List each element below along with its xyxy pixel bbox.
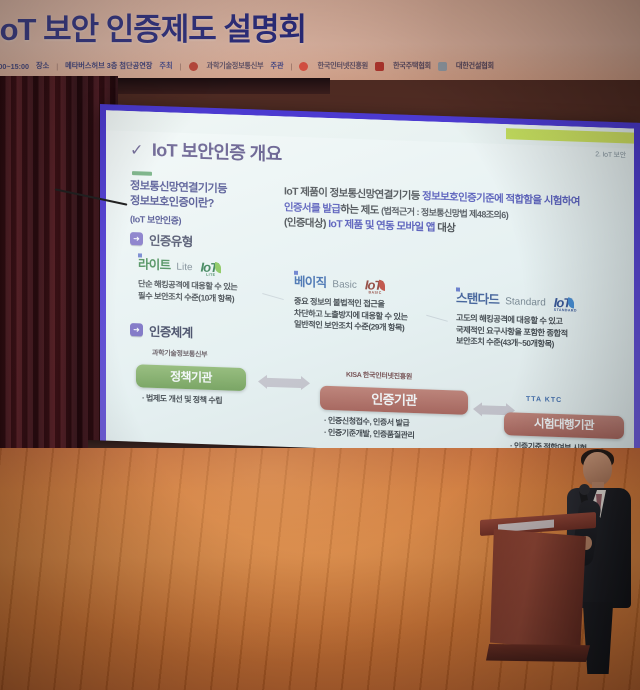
description-block: IoT 제품이 정보통신망연결기기등 정보보호인증기준에 적합함을 시험하여 인… bbox=[284, 184, 634, 243]
policy-bullets: · 법제도 개선 및 정책 수립 bbox=[142, 392, 222, 407]
flow-box-policy: 정책기관 bbox=[136, 364, 246, 391]
microphone-head-icon bbox=[579, 484, 590, 495]
tier-standard-name: 스탠다드 bbox=[456, 287, 499, 308]
auditorium-scene: IoT 보안 인증제도 설명회 14:00~15:00 장소 | 메타버스허브 … bbox=[0, 0, 640, 690]
host-logo-icon bbox=[189, 62, 198, 71]
banner-organizer-3: 대한건설협회 bbox=[456, 61, 494, 71]
standard-swish-icon bbox=[568, 297, 574, 308]
banner-time: 14:00~15:00 bbox=[0, 62, 29, 71]
tier-bullet-icon bbox=[138, 253, 142, 257]
iot-standard-mark-icon: IoT STANDARD bbox=[554, 295, 577, 313]
policy-org-logo: 과학기술정보통신부 bbox=[152, 348, 207, 360]
arrow-chip-icon: ➜ bbox=[130, 232, 143, 245]
tier-lite: 라이트 Lite IoT LITE 단순 해킹공격에 대응할 수 있는 필수 보… bbox=[138, 253, 237, 305]
desc-3c: 대상 bbox=[435, 223, 455, 235]
event-banner: IoT 보안 인증제도 설명회 14:00~15:00 장소 | 메타버스허브 … bbox=[0, 0, 640, 80]
podium bbox=[488, 516, 588, 664]
projection-screen: 2. IoT 보안 ✓IoT 보안인증 개요 정보통신망연결기기등 정보보호인증… bbox=[106, 110, 634, 472]
section-cert-types: ➜ 인증유형 bbox=[130, 229, 193, 250]
banner-sep-2: | bbox=[180, 62, 182, 71]
banner-host-label: 주최 bbox=[159, 61, 172, 71]
slide-title: ✓IoT 보안인증 개요 bbox=[130, 135, 282, 166]
podium-body bbox=[490, 529, 586, 651]
tier-lite-name: 라이트 bbox=[138, 253, 170, 273]
desc-3a: (인증대상) bbox=[284, 218, 328, 231]
banner-organizer-label: 주관 bbox=[270, 61, 283, 71]
construction-assoc-logo-icon bbox=[438, 62, 447, 71]
iot-lite-mark-icon: IoT LITE bbox=[201, 260, 222, 278]
iot-standard-mark-sub: STANDARD bbox=[554, 308, 577, 313]
slide-section-tag: 2. IoT 보안 bbox=[595, 149, 626, 160]
tier-standard: 스탠다드 Standard IoT STANDARD 고도의 해킹공격에 대응할… bbox=[456, 287, 577, 351]
definition-block: 정보통신망연결기기등 정보보호인증이란? (IoT 보안인증) bbox=[130, 179, 270, 230]
banner-venue: 메타버스허브 3층 첨단공연장 bbox=[65, 61, 152, 71]
presentation-slide: 2. IoT 보안 ✓IoT 보안인증 개요 정보통신망연결기기등 정보보호인증… bbox=[106, 110, 634, 472]
banner-venue-label: 장소 bbox=[36, 61, 49, 71]
projection-screen-frame: 2. IoT 보안 ✓IoT 보안인증 개요 정보통신망연결기기등 정보보호인증… bbox=[100, 104, 640, 481]
presenter-head bbox=[583, 452, 612, 486]
section-cert-system-label: 인증체계 bbox=[149, 321, 193, 342]
desc-2c: (법적근거 : 정보통신망법 제48조의6) bbox=[381, 205, 508, 219]
arrow-chip-icon: ➜ bbox=[130, 323, 143, 336]
testing-org-logo: TTA KTC bbox=[526, 396, 562, 404]
cert-bullet-2: · 인증기준개발, 인증품질관리 bbox=[324, 427, 414, 442]
desc-3b: IoT 제품 및 연동 모바일 앱 bbox=[328, 219, 435, 234]
banner-title: IoT 보안 인증제도 설명회 bbox=[0, 4, 412, 49]
banner-sep-1: | bbox=[56, 62, 58, 71]
tier-standard-head: 스탠다드 Standard IoT STANDARD bbox=[456, 287, 577, 311]
tier-basic: 베이직 Basic IoT BASIC 중요 정보의 불법적인 접근을 차단하고… bbox=[294, 271, 408, 335]
banner-subline: 14:00~15:00 장소 | 메타버스허브 3층 첨단공연장 주최 | 과학… bbox=[0, 57, 640, 75]
banner-host: 과학기술정보통신부 bbox=[207, 61, 264, 71]
kisa-logo-icon bbox=[299, 62, 308, 71]
tier-connector-1-icon bbox=[262, 293, 284, 300]
slide-title-text: IoT 보안인증 개요 bbox=[152, 140, 282, 165]
tier-basic-head: 베이직 Basic IoT BASIC bbox=[294, 271, 408, 295]
tier-bullet-icon bbox=[456, 287, 460, 291]
cert-org-logo: KISA 한국인터넷진흥원 bbox=[346, 370, 412, 382]
desc-2b: 하는 제도 bbox=[340, 204, 381, 216]
flow-box-testing: 시험대행기관 bbox=[504, 412, 624, 439]
desc-2a: 인증서를 발급 bbox=[284, 202, 340, 215]
flow-arrow-1-icon bbox=[266, 378, 302, 388]
housing-assoc-logo-icon bbox=[375, 62, 384, 71]
section-cert-types-label: 인증유형 bbox=[149, 230, 193, 251]
flow-arrow-2-icon bbox=[481, 405, 507, 415]
tier-connector-2-icon bbox=[426, 315, 448, 322]
definition-line-3: (IoT 보안인증) bbox=[130, 212, 270, 230]
desc-1a: IoT 제품이 정보통신망연결기기등 bbox=[284, 186, 422, 202]
banner-sep-3: | bbox=[291, 62, 293, 71]
check-icon: ✓ bbox=[130, 140, 143, 160]
banner-organizer-2: 한국주택협회 bbox=[393, 61, 431, 71]
banner-organizer-1: 한국인터넷진흥원 bbox=[317, 61, 368, 71]
tier-lite-head: 라이트 Lite IoT LITE bbox=[138, 253, 237, 276]
iot-basic-mark-icon: IoT BASIC bbox=[365, 277, 386, 295]
tier-bullet-icon bbox=[294, 271, 298, 275]
tier-lite-eng: Lite bbox=[176, 262, 192, 274]
section-cert-system: ➜ 인증체계 bbox=[130, 320, 193, 341]
basic-swish-icon bbox=[379, 280, 385, 291]
tier-basic-eng: Basic bbox=[332, 279, 356, 291]
podium-base bbox=[486, 644, 590, 662]
flow-box-cert: 인증기관 bbox=[320, 386, 468, 415]
green-dash-marker bbox=[132, 171, 152, 176]
tier-standard-eng: Standard bbox=[505, 296, 546, 308]
cert-bullets: · 인증신청접수, 인증서 발급 · 인증기준개발, 인증품질관리 bbox=[324, 415, 414, 442]
tier-basic-name: 베이직 bbox=[294, 271, 326, 291]
